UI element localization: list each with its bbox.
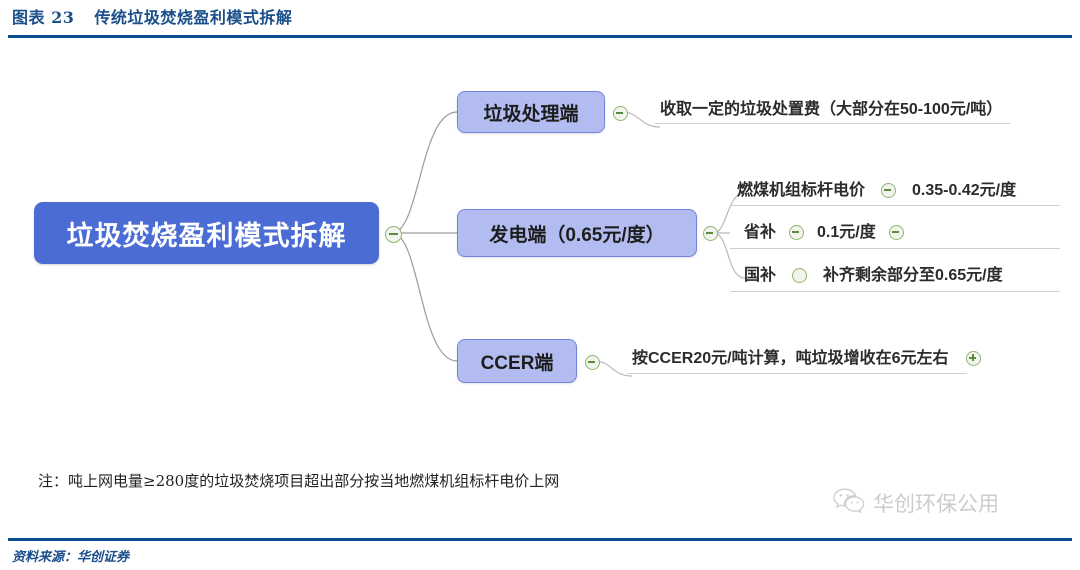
leaf-ccer-expand-handle[interactable]: [966, 351, 981, 366]
leaf-national-subsidy-underline: [730, 291, 1060, 292]
leaf-waste-fee[interactable]: 收取一定的垃圾处置费（大部分在50-100元/吨）: [660, 101, 1002, 119]
mindmap-canvas: 垃圾焚烧盈利模式拆解 垃圾处理端 收取一定的垃圾处置费（大部分在50-100元/…: [0, 45, 1080, 465]
leaf-ccer-revenue[interactable]: 按CCER20元/吨计算，吨垃圾增收在6元左右: [632, 350, 981, 368]
title-divider: [8, 35, 1072, 38]
branch-0-collapse-handle[interactable]: [613, 106, 628, 121]
leaf-provincial-subsidy-collapse-handle[interactable]: [789, 225, 804, 240]
leaf-provincial-subsidy-trailing-handle[interactable]: [889, 225, 904, 240]
leaf-coal-benchmark-collapse-handle[interactable]: [881, 183, 896, 198]
leaf-waste-fee-underline: [655, 123, 1010, 124]
leaf-provincial-subsidy-label: 省补: [744, 224, 776, 242]
branch-1-collapse-handle[interactable]: [703, 226, 718, 241]
leaf-coal-benchmark-price-value: 0.35-0.42元/度: [912, 182, 1016, 200]
leaf-provincial-subsidy[interactable]: 省补 0.1元/度: [744, 224, 904, 242]
leaf-national-subsidy-label: 国补: [744, 267, 776, 285]
root-collapse-handle[interactable]: [385, 226, 402, 243]
connector-root-to-branch-0: [392, 112, 457, 233]
branch-node-power-generation[interactable]: 发电端（0.65元/度）: [457, 209, 697, 257]
leaf-provincial-subsidy-value: 0.1元/度: [817, 224, 876, 242]
page-title: 图表 23 传统垃圾焚烧盈利模式拆解: [12, 4, 292, 28]
connector-branch1-to-leaf2: [713, 233, 745, 278]
leaf-ccer-revenue-text: 按CCER20元/吨计算，吨垃圾增收在6元左右: [632, 350, 948, 368]
branch-2-collapse-handle[interactable]: [585, 355, 600, 370]
figure-note: 注：吨上网电量≥280度的垃圾焚烧项目超出部分按当地燃煤机组标杆电价上网: [38, 470, 559, 491]
watermark-label: 华创环保公用: [873, 488, 999, 518]
leaf-national-subsidy-value: 补齐剩余部分至0.65元/度: [823, 267, 1003, 285]
figure-index: 图表 23: [12, 8, 74, 27]
branch-node-waste-treatment[interactable]: 垃圾处理端: [457, 91, 605, 133]
leaf-waste-fee-text: 收取一定的垃圾处置费（大部分在50-100元/吨）: [660, 101, 1002, 119]
footer-divider: [8, 538, 1072, 541]
leaf-provincial-subsidy-underline: [730, 248, 1060, 249]
watermark: 华创环保公用: [832, 487, 999, 518]
source-label: 资料来源：华创证券: [12, 546, 129, 565]
branch-node-ccer[interactable]: CCER端: [457, 339, 577, 383]
leaf-national-subsidy-dot-handle[interactable]: [792, 268, 807, 283]
root-node[interactable]: 垃圾焚烧盈利模式拆解: [34, 202, 379, 264]
leaf-national-subsidy[interactable]: 国补 补齐剩余部分至0.65元/度: [744, 267, 1003, 285]
leaf-ccer-underline: [627, 373, 967, 374]
leaf-coal-benchmark-underline: [730, 205, 1060, 206]
wechat-icon: [832, 487, 866, 518]
connector-root-to-branch-2: [392, 233, 457, 361]
figure-title-text: 传统垃圾焚烧盈利模式拆解: [94, 8, 292, 27]
leaf-coal-benchmark-price[interactable]: 燃煤机组标杆电价 0.35-0.42元/度: [737, 182, 1016, 200]
leaf-coal-benchmark-price-label: 燃煤机组标杆电价: [737, 182, 865, 200]
